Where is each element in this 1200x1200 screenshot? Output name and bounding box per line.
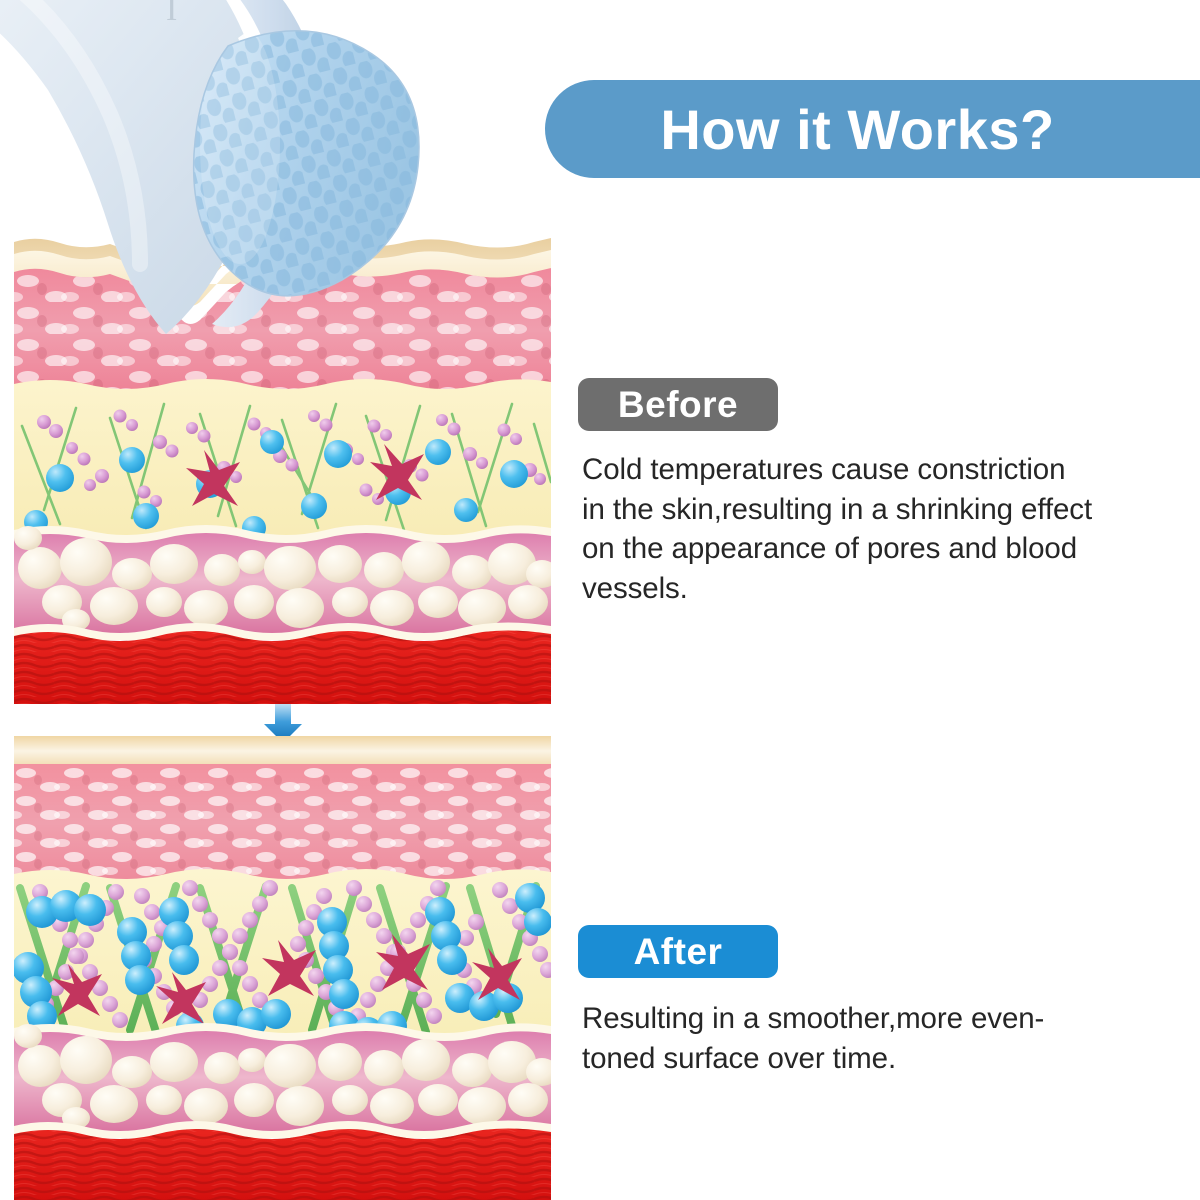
badge-before-label: Before — [618, 384, 738, 426]
before-description: Cold temperatures cause constriction in … — [582, 450, 1194, 608]
muscle-striations-after — [14, 1128, 551, 1200]
page-title: How it Works? — [660, 97, 1084, 162]
after-skin-svg — [14, 736, 551, 1200]
after-description: Resulting in a smoother,more even- toned… — [582, 999, 1194, 1078]
handle-emboss-mark: I — [166, 0, 177, 28]
layer-epidermis-smooth — [14, 736, 551, 766]
ice-roller-device: I — [0, 0, 460, 364]
status-badge-before: Before — [578, 378, 778, 431]
muscle-striations — [14, 630, 551, 704]
skin-diagram-after — [14, 736, 551, 1200]
infographic-stage: How it Works? — [0, 0, 1200, 1200]
dermis-cell-texture-after — [14, 764, 551, 883]
title-banner: How it Works? — [545, 80, 1200, 178]
roller-head — [180, 14, 460, 334]
badge-after-label: After — [634, 931, 723, 973]
status-badge-after: After — [578, 925, 778, 978]
